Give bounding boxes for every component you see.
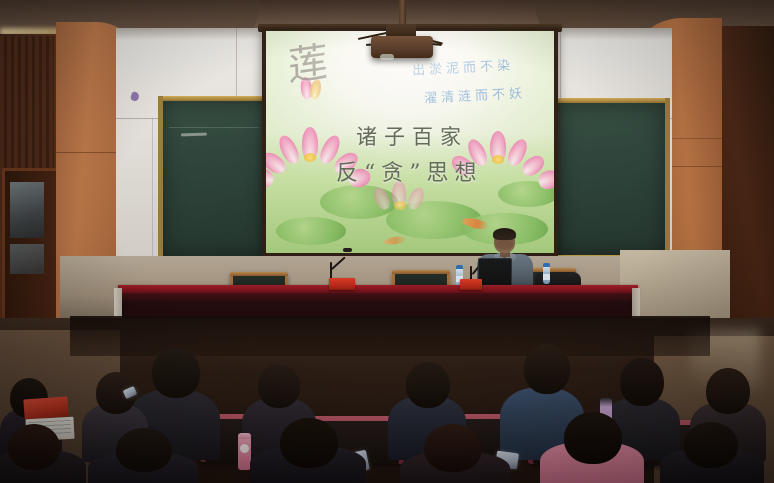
- lecture-hall-photo: 莲 出淤泥而不染 濯清涟而不妖 诸子百家 反“贪”思想: [0, 0, 774, 483]
- chair-top-rail: [230, 272, 288, 276]
- audience-head: [280, 418, 338, 468]
- water-bottle-cap: [543, 263, 550, 267]
- chalk-streak: [169, 127, 259, 128]
- chalkboard-right: [552, 98, 670, 260]
- thermos-cap: [238, 433, 251, 439]
- lotus-core: [394, 201, 406, 210]
- audience-head: [152, 348, 200, 398]
- chair-top-rail: [392, 270, 450, 274]
- audience-head: [406, 362, 450, 408]
- name-placard-left: [329, 278, 355, 290]
- audience-head: [524, 344, 570, 394]
- projector-lens: [380, 54, 394, 60]
- wood-slats-left: [0, 36, 54, 176]
- audience-head: [684, 422, 738, 468]
- slide-poem-line-2: 濯清涟而不妖: [424, 82, 527, 106]
- speaker-hair: [493, 228, 516, 240]
- audience-head: [620, 358, 664, 406]
- chalk-mark: [181, 133, 207, 137]
- water-bottle-cap: [456, 265, 463, 269]
- lilypad: [276, 217, 346, 245]
- slide-title-line-2: 反“贪”思想: [336, 155, 483, 187]
- audience-head: [258, 364, 300, 408]
- speaker-face-shadow: [496, 240, 513, 250]
- door-glass-lower: [10, 244, 44, 274]
- microphone-head-left: [343, 248, 352, 252]
- slide-brush-character: 莲: [288, 44, 325, 85]
- projector-mount-pole: [399, 0, 406, 26]
- red-booklet: [23, 396, 68, 419]
- slide-title-line-1: 诸子百家: [356, 121, 468, 151]
- table-sheen: [120, 293, 636, 303]
- door-glass-upper: [10, 182, 44, 238]
- chalkboard-top-rail: [163, 96, 271, 101]
- water-bottle-label: [543, 274, 550, 280]
- projection-screen: 莲 出淤泥而不染 濯清涟而不妖 诸子百家 反“贪”思想: [266, 31, 554, 253]
- lotus-core: [492, 155, 504, 164]
- audience-head: [706, 368, 750, 414]
- name-placard-right: [460, 279, 482, 290]
- laptop-screen: [478, 258, 512, 288]
- audience-head: [8, 424, 60, 470]
- thermos-label: [240, 444, 249, 453]
- audience-head: [564, 412, 622, 464]
- chalkboard-left: [158, 96, 276, 262]
- chalkboard-top-rail: [557, 98, 665, 103]
- lotus-core: [304, 153, 316, 162]
- audience-head: [116, 428, 172, 472]
- audience-head: [424, 424, 482, 472]
